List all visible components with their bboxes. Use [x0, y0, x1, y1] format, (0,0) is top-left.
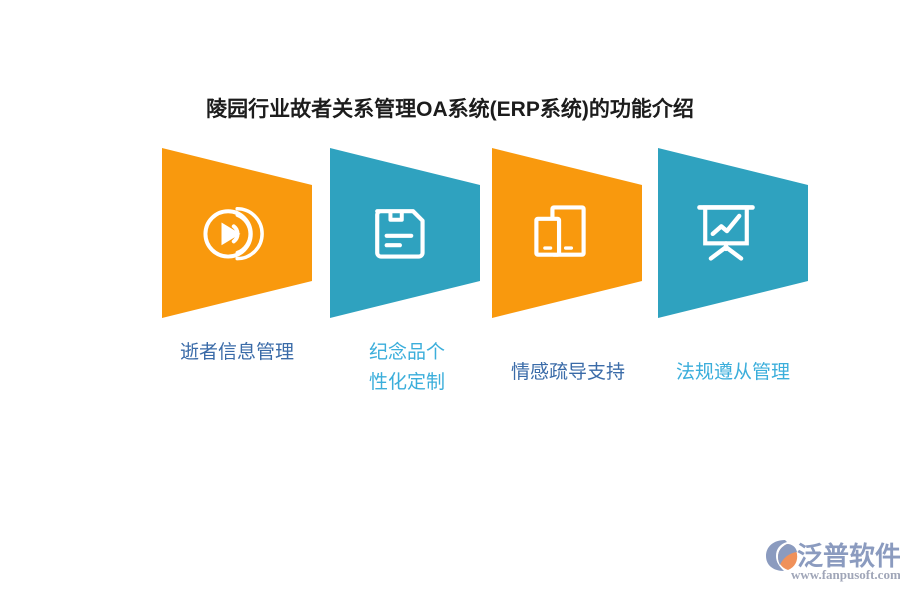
funnel-item-3[interactable]: [492, 148, 642, 318]
funnel-label-3: 情感疏导支持: [483, 338, 653, 388]
pie-chart-arrow-icon: [196, 196, 264, 268]
funnel-item-2[interactable]: [330, 148, 480, 318]
company-logo: 泛普软件 www.fanpusoft.com: [765, 534, 890, 588]
funnel-item-1[interactable]: [162, 148, 312, 318]
document-save-icon: [364, 196, 432, 268]
logo-url: www.fanpusoft.com: [791, 567, 900, 583]
funnel-label-2: 纪念品个 性化定制: [322, 338, 492, 398]
page-title: 陵园行业故者关系管理OA系统(ERP系统)的功能介绍: [0, 93, 900, 123]
funnel-labels-row: 逝者信息管理 纪念品个 性化定制 情感疏导支持 法规遵从管理: [0, 338, 900, 428]
presentation-chart-icon: [692, 196, 760, 268]
slide-canvas: 陵园行业故者关系管理OA系统(ERP系统)的功能介绍: [0, 0, 900, 600]
funnel-shapes-row: [0, 148, 900, 318]
funnel-label-4: 法规遵从管理: [648, 338, 818, 388]
funnel-item-4[interactable]: [658, 148, 808, 318]
funnel-label-1: 逝者信息管理: [152, 338, 322, 368]
devices-icon: [526, 196, 594, 268]
